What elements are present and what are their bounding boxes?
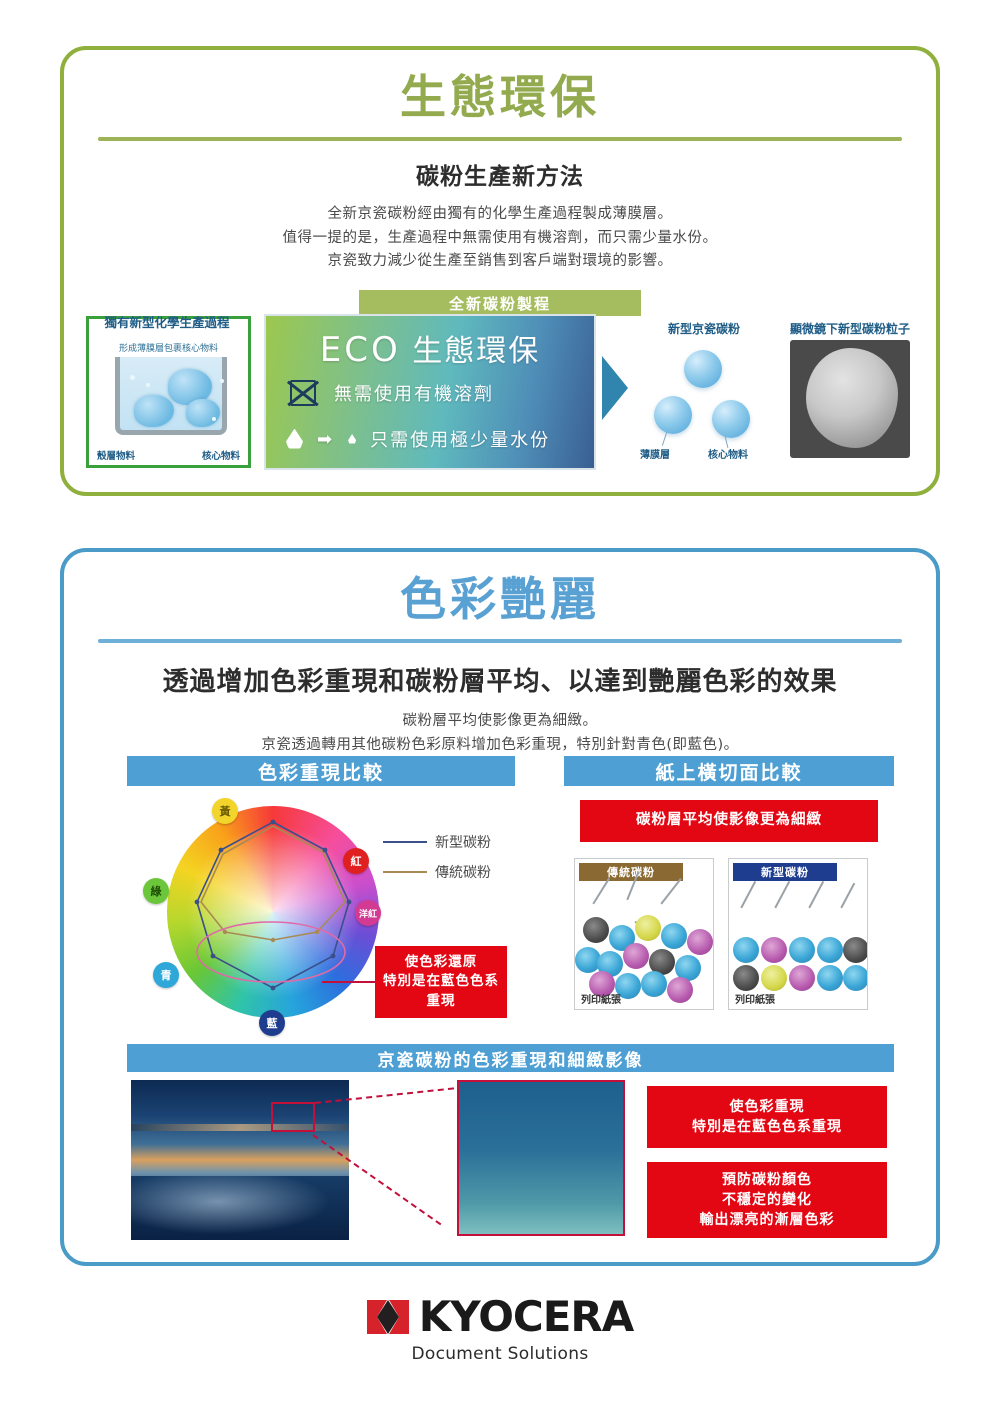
- legend-item-new-toner: 新型碳粉: [383, 832, 491, 852]
- toner-dot-cyan: [843, 965, 868, 991]
- eco-divider: [98, 137, 902, 141]
- eco-process-diagram: 形成薄膜層包裹核心物料 殼層物料 核心物料 獨有新型化學生產過程: [86, 314, 916, 474]
- core-material-label: 核心物料: [202, 448, 240, 462]
- leader-line: [662, 432, 667, 446]
- color-stability-callout: 預防碳粉顏色 不穩定的變化 輸出漂亮的漸層色彩: [647, 1162, 887, 1238]
- core-material-label: 核心物料: [708, 446, 748, 461]
- toner-ball: [654, 396, 692, 434]
- legend-swatch-new-toner: [383, 841, 427, 844]
- color-gamut-panel-header: 色彩重現比較: [127, 756, 515, 786]
- color-paragraph-line: 京瓷透過轉用其他碳粉色彩原料增加色彩重現，特別針對青色(即藍色)。: [64, 734, 936, 758]
- new-toner-caption: 新型京瓷碳粉: [634, 320, 774, 337]
- gamut-callout-line: 特別是在藍色色系: [383, 972, 499, 992]
- toner-blob: [134, 395, 174, 427]
- eco-word: ECO: [320, 330, 401, 370]
- eco-section-card: 生態環保 碳粉生產新方法 全新京瓷碳粉經由獨有的化學生產過程製成薄膜層。 值得一…: [60, 46, 940, 496]
- color-paragraph: 碳粉層平均使影像更為細緻。 京瓷透過轉用其他碳粉色彩原料增加色彩重現，特別針對青…: [64, 710, 936, 758]
- toner-ball: [712, 400, 750, 438]
- new-toner-gamut-polygon: [197, 822, 349, 988]
- eco-panel-title: ECO 生態環保: [266, 326, 594, 370]
- gamut-legend: 新型碳粉 傳統碳粉: [383, 832, 491, 892]
- eco-paragraph-line: 京瓷致力減少從生產至銷售到客戶端對環境的影響。: [64, 250, 936, 274]
- toner-dot-magenta: [687, 929, 713, 955]
- eco-section-title: 生態環保: [64, 72, 936, 123]
- photo-selection-box: [271, 1102, 315, 1132]
- toner-dot-magenta: [789, 965, 815, 991]
- cross-section-panel-header: 紙上橫切面比較: [564, 756, 894, 786]
- toner-dot-black: [733, 965, 759, 991]
- light-ray: [740, 881, 755, 908]
- new-toner-tag: 新型碳粉: [733, 863, 837, 881]
- color-divider: [98, 639, 902, 643]
- eco-bullet-1-label: 無需使用有機溶劑: [334, 380, 494, 406]
- eco-bullet-2-label: 只需使用極少量水份: [370, 426, 550, 452]
- toner-dot-magenta: [623, 943, 649, 969]
- water-drop-icon: [286, 429, 303, 450]
- color-reproduction-callout: 使色彩重現 特別是在藍色色系重現: [647, 1086, 887, 1148]
- film-layer-label: 薄膜層: [640, 446, 670, 461]
- no-solvent-icon: [286, 378, 320, 408]
- legend-label-new-toner: 新型碳粉: [435, 832, 491, 852]
- light-ray: [774, 881, 789, 908]
- chemical-process-header: 獨有新型化學生產過程: [78, 312, 256, 331]
- eco-bullet-no-solvent: 無需使用有機溶劑: [286, 378, 494, 408]
- light-ray: [660, 878, 681, 904]
- brand-footer: KYOCERA Document Solutions: [0, 1292, 1000, 1364]
- kyocera-wordmark: KYOCERA: [419, 1292, 634, 1341]
- color-subtitle: 透過增加色彩重現和碳粉層平均、以達到艷麗色彩的效果: [64, 661, 936, 698]
- kyocera-mark-icon: [367, 1296, 409, 1338]
- wheel-node-green: 綠: [143, 878, 169, 904]
- callout-b-line: 預防碳粉顏色: [700, 1170, 835, 1190]
- paper-label: 列印紙張: [581, 991, 621, 1006]
- shell-forming-caption: 形成薄膜層包裹核心物料: [89, 341, 248, 354]
- sample-image-row: 使色彩重現 特別是在藍色色系重現 預防碳粉顏色 不穩定的變化 輸出漂亮的漸層色彩: [127, 1080, 894, 1244]
- ocean-waves: [131, 1176, 349, 1240]
- microscope-photo-block: 顯微鏡下新型碳粉粒子: [786, 314, 914, 470]
- conventional-toner-tag: 傳統碳粉: [579, 863, 683, 881]
- conventional-toner-cross-section: 傳統碳粉 列印紙張: [574, 858, 714, 1010]
- arrow-right-icon: ➡: [317, 429, 334, 450]
- gamut-polygons: [167, 806, 379, 1018]
- new-toner-cross-section: 新型碳粉 列印紙張: [728, 858, 868, 1010]
- toner-dot-magenta: [761, 937, 787, 963]
- poster-page: 生態環保 碳粉生產新方法 全新京瓷碳粉經由獨有的化學生產過程製成薄膜層。 值得一…: [0, 0, 1000, 1414]
- new-toner-particles: 新型京瓷碳粉 薄膜層 核心物料: [634, 314, 774, 470]
- toner-dot-yellow: [635, 915, 661, 941]
- eco-panel-subtitle: 生態環保: [412, 334, 540, 369]
- eco-bullet-low-water: ➡ 只需使用極少量水份: [286, 426, 550, 452]
- eco-gradient-panel: ECO 生態環保 無需使用有機溶劑 ➡ 只需使用極少量水份: [264, 314, 596, 470]
- callout-a-line: 使色彩重現: [692, 1097, 842, 1117]
- toner-dot-cyan: [733, 937, 759, 963]
- water-dot: [212, 417, 216, 421]
- eco-paragraph-line: 值得一提的是，生產過程中無需使用有機溶劑，而只需少量水份。: [64, 227, 936, 251]
- callout-connector-line: [322, 981, 378, 983]
- beaker-icon: [115, 357, 227, 435]
- water-dot: [220, 379, 224, 383]
- callout-b-line: 不穩定的變化: [700, 1190, 835, 1210]
- color-gamut-chart: 黃 紅 洋紅 藍 青 綠 新型碳粉 傳統碳粉 使色彩還原 特別是在: [127, 796, 515, 1036]
- toner-particle-photo: [806, 348, 898, 448]
- toner-dot-yellow: [761, 965, 787, 991]
- wheel-node-blue: 藍: [259, 1010, 285, 1036]
- gamut-callout-line: 使色彩還原: [383, 953, 499, 973]
- blue-region-highlight: [197, 922, 345, 982]
- eco-paragraph-line: 全新京瓷碳粉經由獨有的化學生產過程製成薄膜層。: [64, 203, 936, 227]
- paper-label: 列印紙張: [735, 991, 775, 1006]
- water-dot: [146, 383, 150, 387]
- eco-process-banner: 全新碳粉製程: [359, 290, 641, 316]
- light-ray: [592, 878, 609, 904]
- toner-dot-cyan: [817, 965, 843, 991]
- color-section-title: 色彩艷麗: [64, 574, 936, 625]
- horizon-glow: [131, 1124, 349, 1131]
- callout-b-line: 輸出漂亮的漸層色彩: [700, 1210, 835, 1230]
- microscope-caption: 顯微鏡下新型碳粉粒子: [772, 320, 928, 337]
- image-quality-banner: 京瓷碳粉的色彩重現和細緻影像: [127, 1044, 894, 1072]
- toner-dot-cyan: [817, 937, 843, 963]
- toner-ball: [684, 350, 722, 388]
- toner-dot-black: [583, 917, 609, 943]
- wheel-node-yellow: 黃: [212, 798, 238, 824]
- toner-blob: [186, 399, 220, 427]
- eco-subtitle: 碳粉生產新方法: [64, 157, 936, 191]
- microscope-image: [790, 340, 910, 458]
- cross-section-diagram: 碳粉層平均使影像更為細緻 傳統碳粉: [564, 796, 894, 1036]
- gamut-callout: 使色彩還原 特別是在藍色色系 重現: [375, 946, 507, 1018]
- wheel-node-cyan: 青: [153, 962, 179, 988]
- toner-dot-cyan: [789, 937, 815, 963]
- legend-swatch-conventional-toner: [383, 871, 427, 874]
- flow-arrow-icon: [602, 356, 628, 420]
- zoomed-gradient-swatch: [457, 1080, 625, 1236]
- light-ray: [840, 883, 854, 908]
- chemical-process-panel: 形成薄膜層包裹核心物料 殼層物料 核心物料: [86, 316, 251, 468]
- light-ray: [808, 881, 823, 908]
- cross-section-banner: 碳粉層平均使影像更為細緻: [580, 800, 878, 842]
- gamut-callout-line: 重現: [383, 992, 499, 1012]
- kyocera-tagline: Document Solutions: [0, 1344, 1000, 1364]
- water-dot: [130, 375, 135, 380]
- toner-dot-black: [843, 937, 868, 963]
- wheel-node-magenta: 洋紅: [355, 900, 381, 926]
- legend-label-conventional-toner: 傳統碳粉: [435, 862, 491, 882]
- callout-a-line: 特別是在藍色色系重現: [692, 1117, 842, 1137]
- toner-dot-cyan: [661, 923, 687, 949]
- kyocera-logo: KYOCERA: [367, 1292, 634, 1341]
- legend-item-conventional-toner: 傳統碳粉: [383, 862, 491, 882]
- toner-dot-magenta: [667, 977, 693, 1003]
- conventional-toner-gamut-polygon: [201, 826, 345, 940]
- water-drop-small-icon: [348, 434, 356, 444]
- beaker-labels: 殼層物料 核心物料: [89, 448, 248, 462]
- seascape-photo: [131, 1080, 349, 1240]
- wheel-node-red: 紅: [343, 848, 369, 874]
- shell-material-label: 殼層物料: [97, 448, 135, 462]
- toner-dot-cyan: [641, 971, 667, 997]
- color-paragraph-line: 碳粉層平均使影像更為細緻。: [64, 710, 936, 734]
- color-section-card: 色彩艷麗 透過增加色彩重現和碳粉層平均、以達到艷麗色彩的效果 碳粉層平均使影像更…: [60, 548, 940, 1266]
- eco-paragraph: 全新京瓷碳粉經由獨有的化學生產過程製成薄膜層。 值得一提的是，生產過程中無需使用…: [64, 203, 936, 275]
